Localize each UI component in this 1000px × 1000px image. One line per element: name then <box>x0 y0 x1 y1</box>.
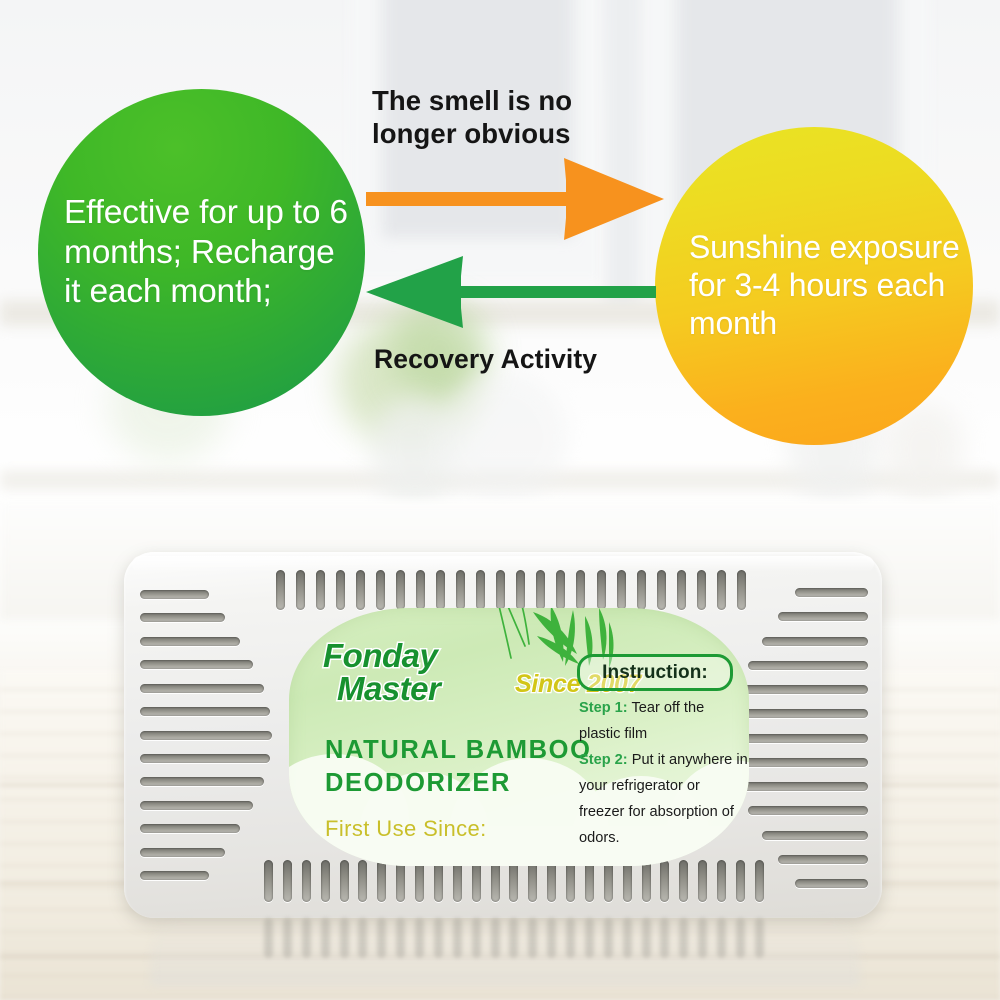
reflection-slot <box>679 918 688 958</box>
vent-slot <box>140 754 270 763</box>
vent-slot <box>748 661 868 670</box>
vent-slot <box>604 860 613 902</box>
sunshine-circle-text: Sunshine exposure for 3-4 hours each mon… <box>689 229 961 342</box>
vent-slot <box>679 860 688 902</box>
vent-row-bottom <box>264 860 764 904</box>
infographic-canvas: Effective for up to 6 months; Recharge i… <box>0 0 1000 1000</box>
vent-slot <box>140 871 209 880</box>
vent-slot <box>778 855 868 864</box>
step-2-key: Step 2: <box>579 752 628 768</box>
arrow-back-icon <box>366 256 656 328</box>
reflection-slot <box>585 918 594 958</box>
vent-slot <box>415 860 424 902</box>
vent-slot <box>728 734 868 743</box>
vent-slot <box>566 860 575 902</box>
reflection-slot <box>453 918 462 958</box>
vent-slot <box>140 637 240 646</box>
vent-slot <box>140 731 272 740</box>
vent-slot <box>356 570 365 610</box>
vent-slot <box>453 860 462 902</box>
vent-slot <box>617 570 626 610</box>
vent-row-left <box>140 590 272 880</box>
reflection-slot <box>415 918 424 958</box>
vent-slot <box>717 860 726 902</box>
reflection-slot <box>509 918 518 958</box>
reflection-slot <box>283 918 292 958</box>
vent-slot <box>637 570 646 610</box>
vent-slot <box>623 860 632 902</box>
vent-slot <box>358 860 367 902</box>
clock-blob <box>436 372 568 504</box>
vent-slot <box>140 590 209 599</box>
vent-slot <box>737 685 868 694</box>
reflection-slot <box>472 918 481 958</box>
vent-slot <box>140 707 270 716</box>
vent-slot <box>491 860 500 902</box>
vent-slot <box>396 860 405 902</box>
vent-slot <box>376 570 385 610</box>
reflection-slot <box>528 918 537 958</box>
product-name: NATURAL BAMBOO DEODORIZER <box>325 734 592 799</box>
reflection-slot <box>642 918 651 958</box>
reflection-slot <box>491 918 500 958</box>
reflection-slot <box>264 918 273 958</box>
vent-slot <box>302 860 311 902</box>
vent-slot <box>140 848 225 857</box>
vent-slot <box>472 860 481 902</box>
step-1-key: Step 1: <box>579 700 628 716</box>
vent-slot <box>276 570 285 610</box>
vent-slot <box>762 637 868 646</box>
vent-slot <box>556 570 565 610</box>
instruction-steps: Step 1: Tear off the plastic film Step 2… <box>579 696 749 852</box>
product-name-line2: DEODORIZER <box>325 767 592 800</box>
vent-slot <box>697 570 706 610</box>
vent-slot <box>660 860 669 902</box>
vent-slot <box>496 570 505 610</box>
vent-slot <box>476 570 485 610</box>
reflection-slot <box>377 918 386 958</box>
vent-slot <box>677 570 686 610</box>
reflection-slot <box>434 918 443 958</box>
deodorizer-product: Fonday Master Since 2007 NATURAL BAMBOO … <box>124 552 882 918</box>
vent-slot <box>657 570 666 610</box>
arrow-forward-label: The smell is no longer obvious <box>372 84 622 150</box>
vent-slot <box>762 831 868 840</box>
vent-slot <box>283 860 292 902</box>
vent-slot <box>597 570 606 610</box>
reflection-slot <box>340 918 349 958</box>
vent-row-right <box>728 588 868 888</box>
vent-slot <box>140 801 253 810</box>
reflection-slot <box>660 918 669 958</box>
reflection-slot <box>736 918 745 958</box>
vent-slot <box>536 570 545 610</box>
vent-slot <box>140 660 253 669</box>
vent-slot <box>528 860 537 902</box>
product-reflection-slots <box>264 918 764 958</box>
vent-slot <box>795 879 868 888</box>
vent-slot <box>778 612 868 621</box>
reflection-slot <box>566 918 575 958</box>
vent-slot <box>642 860 651 902</box>
reflection-slot <box>321 918 330 958</box>
vent-slot <box>336 570 345 610</box>
effectiveness-circle: Effective for up to 6 months; Recharge i… <box>38 89 365 416</box>
vent-slot <box>434 860 443 902</box>
instruction-step-1: Step 1: Tear off the plastic film <box>579 696 749 748</box>
vent-slot <box>416 570 425 610</box>
reflection-slot <box>755 918 764 958</box>
vent-slot <box>321 860 330 902</box>
vent-slot <box>717 570 726 610</box>
vent-slot <box>396 570 405 610</box>
brand-name-line1: Fonday <box>323 640 533 671</box>
vent-slot <box>516 570 525 610</box>
reflection-slot <box>604 918 613 958</box>
arrow-forward-icon <box>366 158 664 240</box>
vent-slot <box>316 570 325 610</box>
brand-logo: Fonday Master <box>323 640 533 705</box>
vent-slot <box>436 570 445 610</box>
vent-slot <box>456 570 465 610</box>
sunshine-circle: Sunshine exposure for 3-4 hours each mon… <box>655 127 973 445</box>
vent-slot <box>296 570 305 610</box>
vent-slot <box>737 782 868 791</box>
reflection-slot <box>358 918 367 958</box>
vent-slot <box>795 588 868 597</box>
effectiveness-circle-text: Effective for up to 6 months; Recharge i… <box>64 193 351 312</box>
vent-slot <box>547 860 556 902</box>
first-use-field: First Use Since: <box>325 816 487 842</box>
vent-slot <box>730 709 868 718</box>
vent-slot <box>509 860 518 902</box>
instruction-title-badge: Instruction: <box>577 654 733 691</box>
vent-slot <box>140 824 240 833</box>
instruction-step-2: Step 2: Put it anywhere in your refriger… <box>579 748 749 852</box>
instruction-title-text: Instruction: <box>602 662 708 684</box>
arrow-back-label: Recovery Activity <box>374 344 664 376</box>
vent-slot <box>585 860 594 902</box>
reflection-slot <box>396 918 405 958</box>
product-name-line1: NATURAL BAMBOO <box>325 734 592 767</box>
reflection-slot <box>717 918 726 958</box>
vent-slot <box>140 684 264 693</box>
reflection-slot <box>302 918 311 958</box>
vent-slot <box>140 777 264 786</box>
vent-slot <box>576 570 585 610</box>
product-label: Fonday Master Since 2007 NATURAL BAMBOO … <box>289 608 749 866</box>
vent-slot <box>140 613 225 622</box>
vent-slot <box>730 758 868 767</box>
vent-slot <box>748 806 868 815</box>
vent-slot <box>340 860 349 902</box>
reflection-slot <box>698 918 707 958</box>
vent-slot <box>698 860 707 902</box>
vent-slot <box>377 860 386 902</box>
brand-name-line2: Master <box>337 673 533 704</box>
reflection-slot <box>623 918 632 958</box>
reflection-slot <box>547 918 556 958</box>
